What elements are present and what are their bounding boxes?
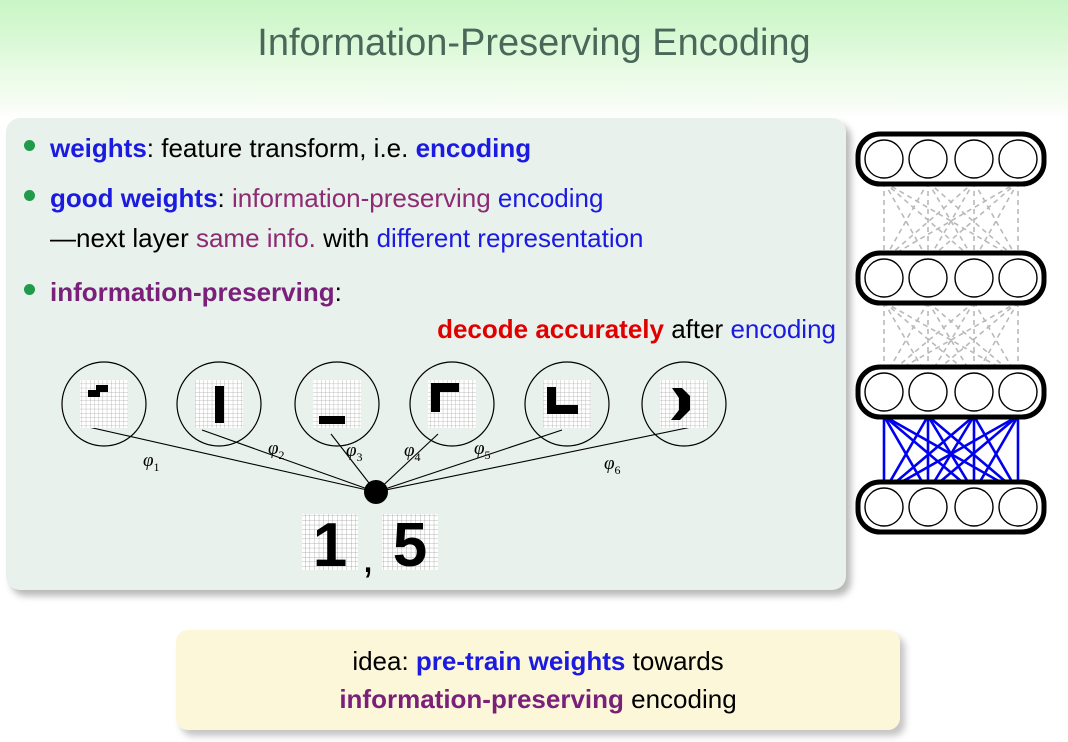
network-layer-2 bbox=[858, 253, 1044, 303]
phi-label-5: φ5 bbox=[474, 438, 491, 463]
network-unit bbox=[955, 140, 993, 178]
neural-network-diagram bbox=[852, 120, 1060, 540]
feature-circle-2 bbox=[177, 362, 261, 446]
network-unit bbox=[865, 488, 903, 526]
bullet-seg-weights-mid: : feature transform, i.e. bbox=[147, 133, 416, 163]
decode-seg-decode-accurately: decode accurately bbox=[437, 314, 664, 344]
network-unit bbox=[909, 259, 947, 297]
digit-1-glyph: 1 bbox=[313, 511, 347, 580]
idea-seg-information-preserving: information-preserving bbox=[339, 684, 624, 714]
bullet-dot-icon bbox=[24, 140, 35, 151]
network-unit bbox=[999, 488, 1037, 526]
digit-5-glyph: 5 bbox=[393, 511, 427, 580]
fan-node-dot bbox=[364, 480, 388, 504]
network-unit bbox=[999, 373, 1037, 411]
fan-svg: 1 , 5 bbox=[6, 350, 846, 590]
network-unit bbox=[955, 488, 993, 526]
idea-seg-idea: idea: bbox=[352, 646, 416, 676]
decode-seg-encoding: encoding bbox=[730, 314, 836, 344]
network-unit bbox=[909, 373, 947, 411]
phi-label-4: φ4 bbox=[404, 440, 421, 465]
bullet-text-information-preserving: information-preserving: bbox=[50, 272, 342, 312]
bullet-seg-ip-term: information-preserving bbox=[50, 277, 335, 307]
page-title: Information-Preserving Encoding bbox=[0, 22, 1068, 65]
digit-cell-1: 1 bbox=[302, 511, 358, 580]
idea-line-2: information-preserving encoding bbox=[339, 680, 736, 718]
bullet-seg-colon: : bbox=[218, 183, 232, 213]
network-unit bbox=[865, 373, 903, 411]
network-unit bbox=[955, 259, 993, 297]
idea-seg-pre-train-weights: pre-train weights bbox=[416, 646, 625, 676]
network-unit bbox=[999, 259, 1037, 297]
network-layer-3 bbox=[858, 367, 1044, 417]
network-unit bbox=[955, 373, 993, 411]
header-ghost-text: · · · bbox=[28, 0, 63, 6]
decode-seg-after: after bbox=[664, 314, 730, 344]
feature-circle-1 bbox=[62, 362, 146, 446]
bullet-seg-info-preserving: information-preserving bbox=[232, 183, 491, 213]
network-unit bbox=[909, 140, 947, 178]
phi-label-2: φ2 bbox=[268, 438, 285, 463]
bullet-dot-icon bbox=[24, 190, 35, 201]
bullet-seg-different-representation: different representation bbox=[377, 223, 644, 253]
bullet-item-weights: weights: feature transform, i.e. encodin… bbox=[24, 128, 836, 168]
bullet-seg-weights: weights bbox=[50, 133, 147, 163]
bullet-dot-icon bbox=[24, 284, 35, 295]
bullet-text-good-weights: good weights: information-preserving enc… bbox=[50, 178, 644, 258]
network-connections-1-2 bbox=[884, 182, 1018, 260]
idea-seg-encoding: encoding bbox=[624, 684, 737, 714]
network-unit bbox=[865, 140, 903, 178]
phi-label-3: φ3 bbox=[346, 440, 363, 465]
slide-root: · · · Information-Preserving Encoding we… bbox=[0, 0, 1068, 742]
phi-label-6: φ6 bbox=[604, 453, 621, 478]
bullet-seg-next-layer: —next layer bbox=[50, 223, 196, 253]
feature-circle-3 bbox=[295, 362, 379, 446]
digit-cell-5: 5 bbox=[382, 511, 438, 580]
decode-accurately-line: decode accurately after encoding bbox=[24, 314, 842, 345]
network-layer-1 bbox=[858, 134, 1044, 184]
feature-circle-6 bbox=[642, 362, 726, 446]
bullet-item-information-preserving: information-preserving: bbox=[24, 272, 836, 312]
bullet-seg-encoding-2: encoding bbox=[491, 183, 604, 213]
bullet-seg-encoding: encoding bbox=[416, 133, 532, 163]
bullet-text-weights: weights: feature transform, i.e. encodin… bbox=[50, 128, 531, 168]
network-svg bbox=[852, 120, 1060, 540]
bullet-seg-with: with bbox=[316, 223, 377, 253]
idea-callout-box: idea: pre-train weights towards informat… bbox=[176, 630, 900, 730]
idea-line-1: idea: pre-train weights towards bbox=[352, 642, 723, 680]
idea-seg-towards: towards bbox=[625, 646, 723, 676]
feature-circle-4 bbox=[410, 362, 494, 446]
phi-label-1: φ1 bbox=[143, 450, 160, 475]
network-layer-4 bbox=[858, 482, 1044, 532]
bullet-item-good-weights: good weights: information-preserving enc… bbox=[24, 178, 836, 258]
network-unit bbox=[865, 259, 903, 297]
bullet-seg-ip-colon: : bbox=[335, 277, 342, 307]
digit-separator: , bbox=[362, 533, 374, 582]
bullet-seg-same-info: same info. bbox=[196, 223, 316, 253]
feature-circle-5 bbox=[525, 362, 609, 446]
feature-fan-diagram: 1 , 5 φ1 φ2 φ3 φ4 φ5 φ6 bbox=[6, 350, 846, 590]
network-unit bbox=[909, 488, 947, 526]
bullet-seg-good-weights: good weights bbox=[50, 183, 218, 213]
network-unit bbox=[999, 140, 1037, 178]
